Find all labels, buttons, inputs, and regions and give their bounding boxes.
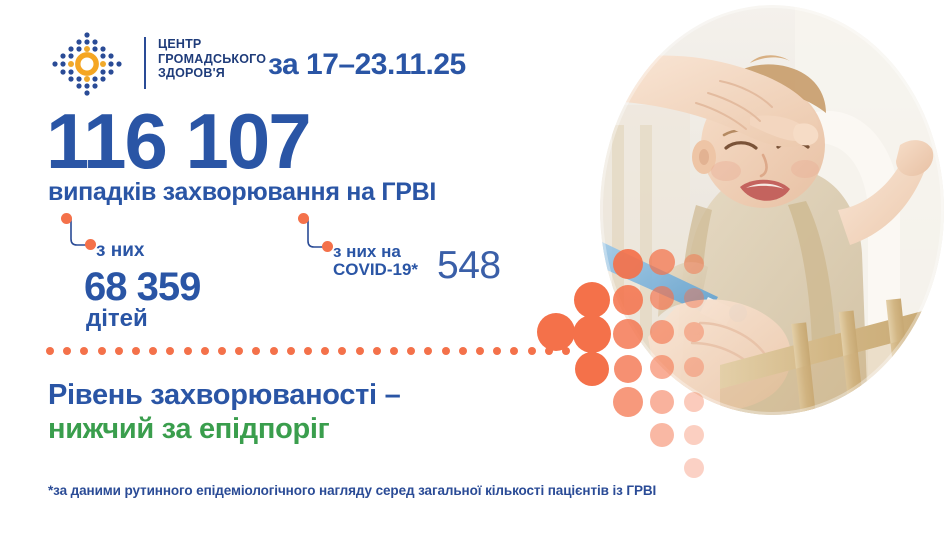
divider-dot: [407, 347, 415, 355]
decorative-dot: [684, 322, 704, 342]
divider-dot: [235, 347, 243, 355]
divider-dot: [510, 347, 518, 355]
connector-dot-covid-end: [322, 241, 333, 252]
connector-dot-children-end: [85, 239, 96, 250]
date-range-label: за 17–23.11.25: [268, 48, 466, 82]
decorative-dot: [650, 390, 674, 414]
divider-dot: [201, 347, 209, 355]
decorative-dot: [614, 355, 642, 383]
divider-dot: [528, 347, 536, 355]
divider-dot: [46, 347, 54, 355]
divider-dot: [132, 347, 140, 355]
divider-dot: [166, 347, 174, 355]
decorative-dot: [684, 425, 704, 445]
decorative-dot: [649, 249, 675, 275]
decorative-dot: [574, 282, 610, 318]
conclusion-headline: Рівень захворюваності – нижчий за епідпо…: [48, 378, 400, 446]
divider-dot: [424, 347, 432, 355]
decorative-dot: [684, 357, 704, 377]
decorative-dot: [613, 387, 643, 417]
decorative-dot: [650, 423, 674, 447]
logo-divider: [144, 37, 146, 89]
stat-covid-label: з них на COVID-19*: [333, 243, 418, 279]
divider-dot: [356, 347, 364, 355]
stat-covid-label-line-1: з них на: [333, 243, 418, 261]
divider-dot: [390, 347, 398, 355]
divider-dot: [63, 347, 71, 355]
divider-dot: [338, 347, 346, 355]
divider-dot: [476, 347, 484, 355]
brand-name-line-3: ЗДОРОВ'Я: [158, 66, 266, 81]
decorative-dot: [573, 315, 611, 353]
divider-dot: [459, 347, 467, 355]
divider-dot: [321, 347, 329, 355]
decorative-dot: [684, 392, 704, 412]
decorative-dot-grid: [556, 272, 716, 482]
decorative-dot: [684, 288, 704, 308]
brand-logo: ЦЕНТР ГРОМАДСЬКОГО ЗДОРОВ'Я: [48, 27, 288, 99]
brand-name-line-2: ГРОМАДСЬКОГО: [158, 52, 266, 67]
divider-dot: [270, 347, 278, 355]
decorative-dot: [684, 254, 704, 274]
conclusion-headline-line-2: нижчий за епідпоріг: [48, 412, 400, 446]
stat-covid-value: 548: [437, 244, 501, 288]
divider-dot: [184, 347, 192, 355]
infographic-canvas: ЦЕНТР ГРОМАДСЬКОГО ЗДОРОВ'Я за 17–23.11.…: [0, 0, 950, 535]
divider-dot: [304, 347, 312, 355]
connector-dot-covid-top: [298, 213, 309, 224]
dotted-divider: [46, 345, 579, 357]
divider-dot: [442, 347, 450, 355]
divider-dot: [252, 347, 260, 355]
stat-children-unit: дітей: [86, 305, 148, 333]
divider-dot: [493, 347, 501, 355]
decorative-dot: [575, 352, 609, 386]
decorative-dot: [537, 313, 575, 351]
divider-dot: [218, 347, 226, 355]
decorative-dot: [650, 286, 674, 310]
divider-dot: [149, 347, 157, 355]
hero-caption: випадків захворювання на ГРВІ: [48, 178, 436, 207]
decorative-dot: [650, 320, 674, 344]
divider-dot: [80, 347, 88, 355]
footnote-text: *за даними рутинного епідеміологічного н…: [48, 483, 656, 498]
decorative-dot: [650, 355, 674, 379]
decorative-dot: [684, 458, 704, 478]
conclusion-headline-line-1: Рівень захворюваності –: [48, 378, 400, 412]
divider-dot: [115, 347, 123, 355]
divider-dot: [373, 347, 381, 355]
brand-name: ЦЕНТР ГРОМАДСЬКОГО ЗДОРОВ'Я: [158, 37, 266, 81]
stat-children-label: з них: [96, 241, 144, 261]
hero-total-cases-number: 116 107: [46, 100, 310, 182]
decorative-dot: [613, 319, 643, 349]
divider-dot: [287, 347, 295, 355]
cph-dotted-diamond-logo-icon: [48, 30, 126, 98]
decorative-dot: [613, 285, 643, 315]
brand-name-line-1: ЦЕНТР: [158, 37, 266, 52]
stat-covid-label-line-2: COVID-19*: [333, 261, 418, 279]
connector-dot-children-top: [61, 213, 72, 224]
divider-dot: [98, 347, 106, 355]
decorative-dot: [613, 249, 643, 279]
stat-children-value: 68 359: [84, 265, 200, 310]
